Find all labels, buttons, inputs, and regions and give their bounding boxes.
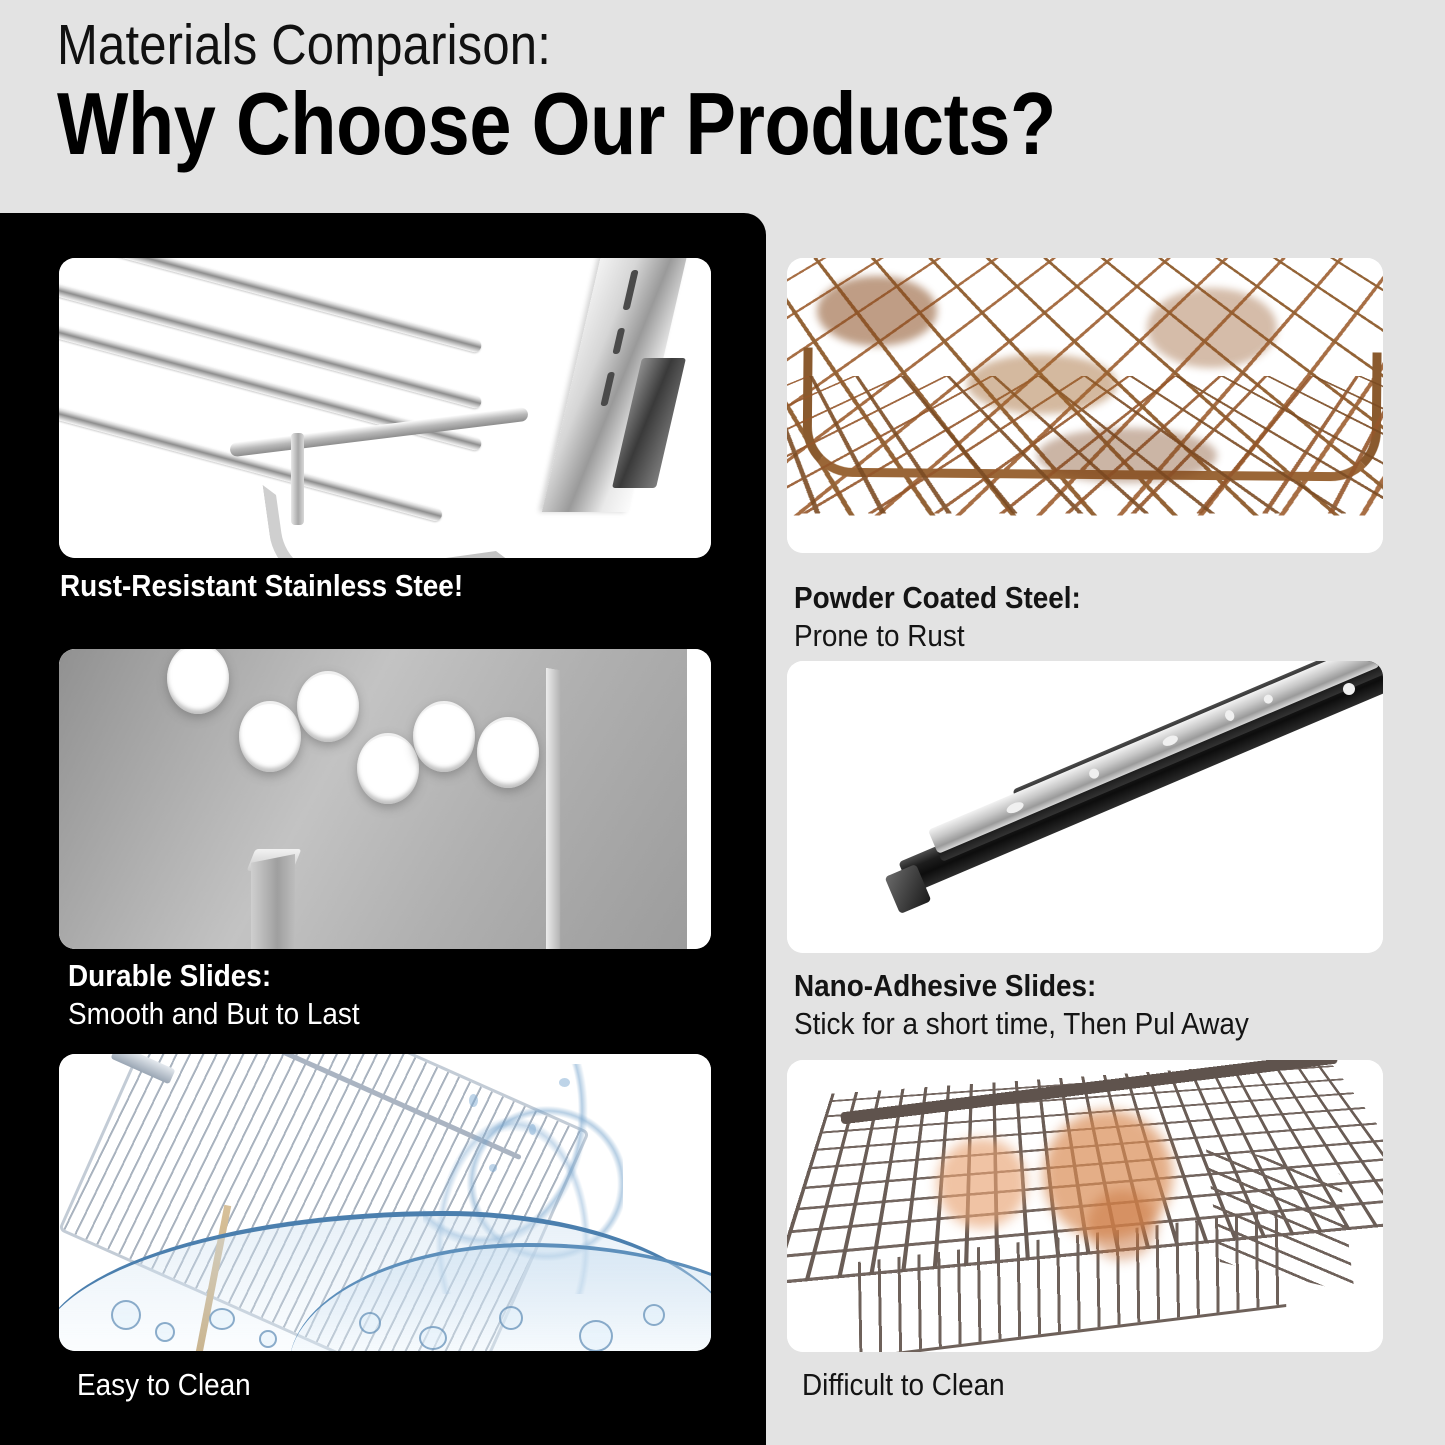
caption-difficult-to-clean: Difficult to Clean [802, 1366, 1027, 1404]
caption-title: Difficult to Clean [802, 1366, 1005, 1404]
caption-powder-coated: Powder Coated Steel: Prone to Rust [794, 579, 1113, 655]
header: Materials Comparison: Why Choose Our Pro… [0, 0, 1445, 213]
caption-easy-to-clean: Easy to Clean [77, 1366, 270, 1404]
rusty-mesh-corner-photo [787, 258, 1383, 553]
chrome-rack-photo [59, 258, 711, 558]
card-nano-adhesive-slides [787, 661, 1383, 953]
caption-title: Powder Coated Steel: [794, 579, 1081, 617]
card-powder-coated-steel [787, 258, 1383, 553]
caption-title: Nano-Adhesive Slides: [794, 967, 1249, 1005]
caption-subtitle: Prone to Rust [794, 617, 1081, 655]
black-drawer-slide-photo [787, 661, 1383, 953]
caption-title: Durable Slides: [68, 957, 360, 995]
page-title: Why Choose Our Products? [57, 76, 1056, 172]
caption-subtitle: Smooth and But to Last [68, 995, 360, 1033]
perforated-slide-plate-photo [59, 649, 711, 949]
card-chrome-rack [59, 258, 711, 558]
caption-rust-resistant: Rust-Resistant Stainless Stee! [60, 567, 508, 605]
caption-title: Easy to Clean [77, 1366, 251, 1404]
caption-subtitle: Stick for a short time, Then Pul Away [794, 1005, 1249, 1043]
dirty-wire-basket-photo [787, 1060, 1383, 1352]
card-durable-slides [59, 649, 711, 949]
infographic-page: Materials Comparison: Why Choose Our Pro… [0, 0, 1445, 1445]
caption-nano-adhesive: Nano-Adhesive Slides: Stick for a short … [794, 967, 1299, 1043]
card-difficult-to-clean [787, 1060, 1383, 1352]
page-subtitle: Materials Comparison: [57, 14, 551, 76]
caption-title: Rust-Resistant Stainless Stee! [60, 567, 463, 605]
caption-durable-slides: Durable Slides: Smooth and But to Last [68, 957, 392, 1033]
rack-water-splash-photo [59, 1054, 711, 1351]
card-easy-to-clean [59, 1054, 711, 1351]
